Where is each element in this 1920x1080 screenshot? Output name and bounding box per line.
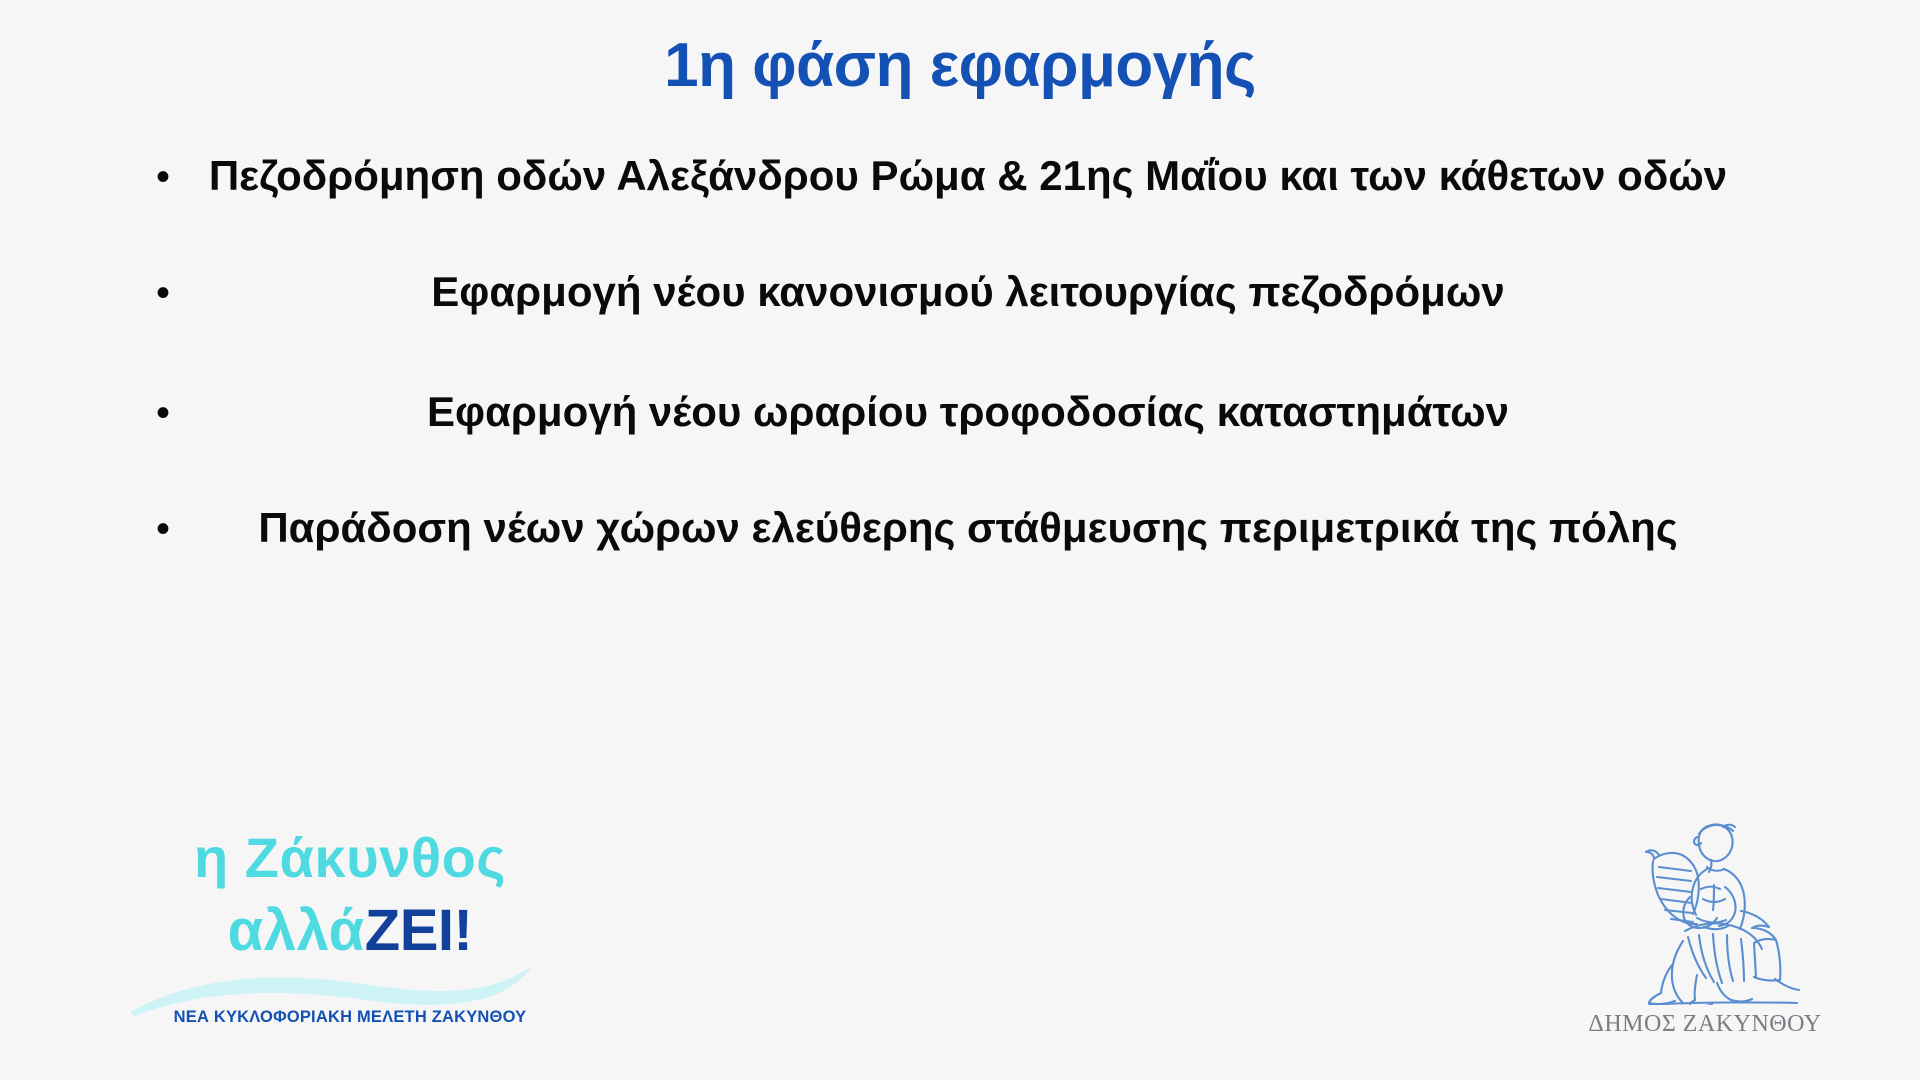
bullet-text-3: Εφαρμογή νέου ωραρίου τροφοδοσίας καταστ…	[178, 384, 1820, 439]
campaign-logo-alla: αλλά	[228, 898, 365, 963]
bullet-text-2: Εφαρμογή νέου κανονισμού λειτουργίας πεζ…	[178, 264, 1820, 319]
campaign-logo-line2: αλλάΖΕΙ!	[140, 902, 560, 960]
slide-title: 1η φάση εφαρμογής	[0, 32, 1920, 100]
municipality-emblem-caption: ΔΗΜΟΣ ΖΑΚΥΝΘΟΥ	[1575, 1011, 1835, 1038]
bullet-item-2: • Εφαρμογή νέου κανονισμού λειτουργίας π…	[120, 264, 1820, 322]
municipality-emblem: ΔΗΜΟΣ ΖΑΚΥΝΘΟΥ	[1575, 815, 1835, 1060]
presentation-slide: 1η φάση εφαρμογής • Πεζοδρόμηση οδών Αλε…	[0, 0, 1920, 1080]
bullet-item-3: • Εφαρμογή νέου ωραρίου τροφοδοσίας κατα…	[120, 384, 1820, 442]
bullet-list: • Πεζοδρόμηση οδών Αλεξάνδρου Ρώμα & 21η…	[120, 148, 1820, 614]
bullet-marker-icon: •	[120, 148, 178, 206]
bullet-marker-icon: •	[120, 500, 178, 558]
campaign-logo: η Ζάκυνθος αλλάΖΕΙ! ΝΕΑ ΚΥΚΛΟΦΟΡΙΑΚΗ ΜΕΛ…	[140, 830, 560, 1040]
seated-lyre-player-icon	[1589, 815, 1819, 1005]
bullet-item-1: • Πεζοδρόμηση οδών Αλεξάνδρου Ρώμα & 21η…	[120, 148, 1820, 206]
bullet-text-1: Πεζοδρόμηση οδών Αλεξάνδρου Ρώμα & 21ης …	[178, 148, 1820, 203]
bullet-text-4: Παράδοση νέων χώρων ελεύθερης στάθμευσης…	[178, 500, 1820, 555]
campaign-logo-tagline: ΝΕΑ ΚΥΚΛΟΦΟΡΙΑΚΗ ΜΕΛΕΤΗ ΖΑΚΥΝΘΟΥ	[140, 1008, 560, 1027]
bullet-marker-icon: •	[120, 384, 178, 442]
campaign-logo-line1: η Ζάκυνθος	[140, 830, 560, 886]
campaign-logo-zei: ΖΕΙ!	[365, 898, 473, 963]
bullet-item-4: • Παράδοση νέων χώρων ελεύθερης στάθμευσ…	[120, 500, 1820, 558]
bullet-marker-icon: •	[120, 264, 178, 322]
